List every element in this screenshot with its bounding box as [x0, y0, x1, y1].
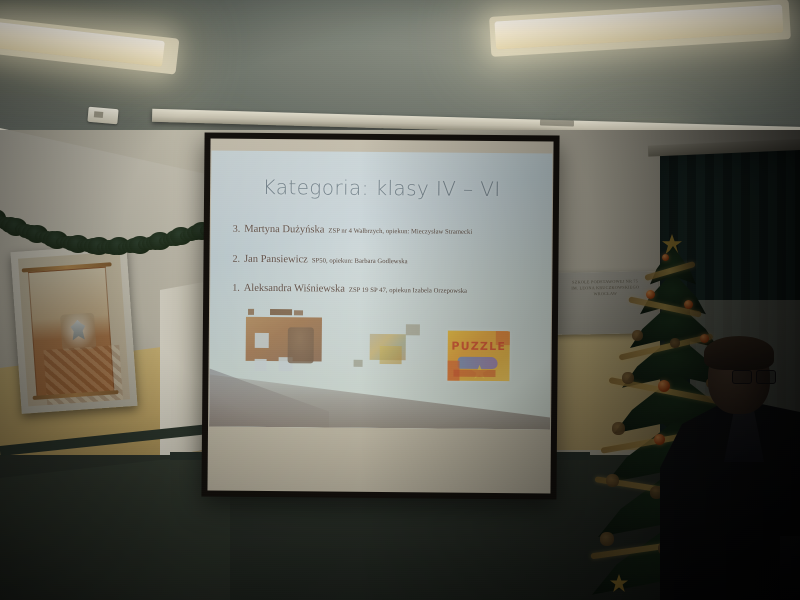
ranking-row-2: 2. Jan Pansiewicz SP50, opiekun: Barbara… [232, 248, 542, 269]
eagle-emblem-icon [60, 313, 96, 351]
evergreen-garland [0, 196, 210, 260]
ranking-row-1: 1. Aleksandra Wiśniewska ZSP 19 SP 47, o… [232, 278, 542, 299]
slide-image-puzzle-artwork-left [246, 309, 322, 362]
rank-number-2: 2. [232, 253, 240, 264]
tree-bauble-1 [662, 254, 669, 261]
puzzle-cutout-1 [255, 333, 269, 348]
puzzle-tab-3 [294, 310, 303, 315]
tree-pinecone-4 [632, 330, 643, 341]
tree-bauble-2 [646, 290, 655, 299]
room-photo: SZKOLE PODSTAWOWEJ NR 75 IM. LEONA KRUCZ… [0, 0, 800, 600]
roller-housing-label [540, 120, 574, 127]
man-in-dark-suit [660, 336, 800, 600]
ranking-row-3: 3. Martyna Dużyńska ZSP nr 4 Wałbrzych, … [233, 219, 543, 240]
slide-image-puzzle-artwork-middle [362, 324, 422, 369]
projection-screen-surface: Kategoria: klasy IV – VI 3. Martyna Duży… [207, 139, 553, 494]
winner-detail-2: SP50, opiekun: Barbara Godlewska [312, 257, 408, 265]
glasses-icon [732, 370, 776, 382]
slide-ranking-list: 3. Martyna Dużyńska ZSP nr 4 Wałbrzych, … [232, 219, 543, 310]
banner-case-interior [18, 252, 130, 407]
smoke-detector [87, 107, 118, 125]
slide-image-puzzle-poster: PUZZLE [447, 331, 509, 382]
winner-name-3: Martyna Dużyńska [244, 224, 324, 236]
puzzle-figure-left [288, 327, 314, 363]
puzzle-cutout-2 [255, 359, 267, 371]
poster-bottom-band [453, 370, 495, 377]
framed-school-banner [10, 244, 137, 414]
winner-detail-1: ZSP 19 SP 47, opiekun Izabela Orzepowska [349, 287, 467, 295]
presentation-slide: Kategoria: klasy IV – VI 3. Martyna Duży… [209, 151, 552, 430]
winner-name-2: Jan Pansiewicz [244, 253, 308, 265]
puzzle-tab-1 [248, 309, 254, 315]
puzzle-fragment-top [406, 324, 420, 335]
puzzle-fragment-bottom [354, 360, 363, 367]
puzzle-artwork-body-left [246, 317, 322, 362]
puzzle-tab-2 [270, 309, 292, 315]
winner-detail-3: ZSP nr 4 Wałbrzych, opiekun: Mieczysław … [328, 228, 472, 236]
rank-number-1: 1. [232, 283, 240, 294]
person-torso [660, 398, 800, 600]
projection-screen[interactable]: Kategoria: klasy IV – VI 3. Martyna Duży… [201, 132, 559, 499]
banner-cloth [28, 267, 115, 398]
tree-pinecone-10 [612, 422, 625, 435]
poster-title-text: PUZZLE [448, 340, 510, 354]
slide-title: Kategoria: klasy IV – VI [211, 175, 552, 202]
winner-name-1: Aleksandra Wiśniewska [244, 283, 345, 295]
tree-pinecone-16 [600, 532, 614, 546]
person-second-figure [780, 536, 800, 600]
poster-blue-shape [458, 357, 498, 369]
rank-number-3: 3. [233, 224, 241, 235]
person-hair [704, 336, 774, 370]
tree-pinecone-13 [606, 474, 619, 487]
tree-bauble-3 [684, 300, 693, 309]
puzzle-artwork-accent-middle [380, 346, 402, 364]
tree-pinecone-7 [622, 372, 634, 384]
